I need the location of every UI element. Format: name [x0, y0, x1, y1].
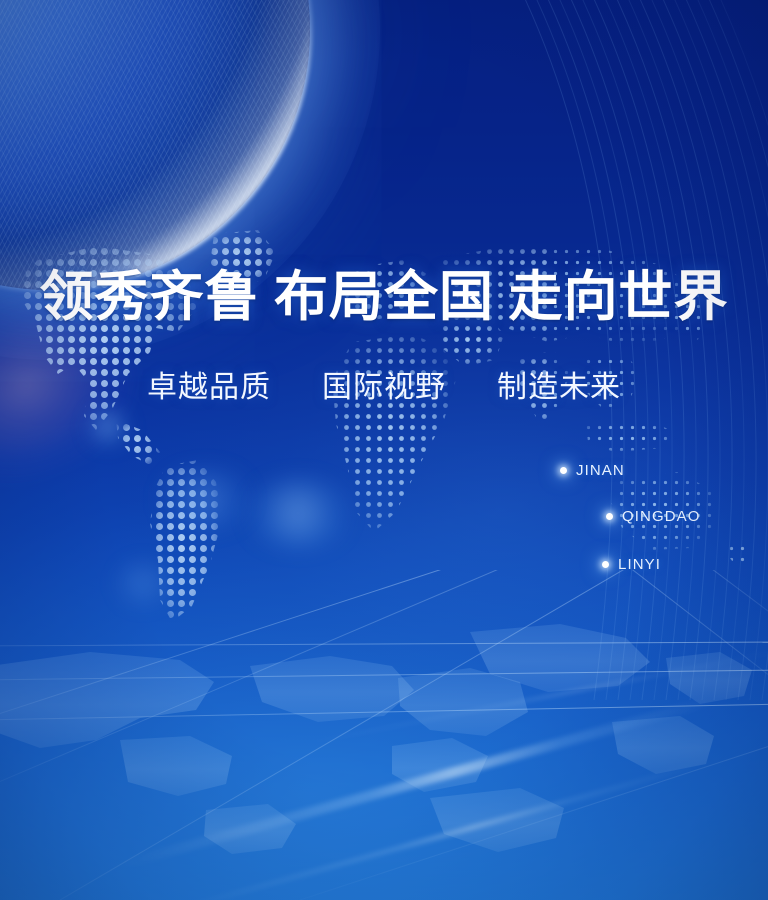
hero-banner: 领秀齐鲁 布局全国 走向世界 卓越品质 国际视野 制造未来 JINAN QING… — [0, 0, 768, 900]
orbit-arc-lines-icon — [388, 0, 768, 700]
glow-spot — [238, 478, 358, 548]
globe-texture — [0, 0, 310, 290]
earth-globe-graphic — [0, 0, 310, 290]
light-streak — [169, 760, 710, 900]
vignette-overlay — [0, 0, 768, 900]
city-dot-icon — [606, 513, 613, 520]
headline-text: 领秀齐鲁 布局全国 走向世界 — [0, 268, 768, 326]
light-streak — [289, 646, 768, 748]
ambient-glow-lower — [0, 430, 768, 900]
glow-spot — [108, 560, 178, 606]
city-marker-jinan: JINAN — [560, 462, 625, 479]
light-streak — [117, 695, 717, 870]
city-dot-icon — [560, 467, 567, 474]
city-marker-qingdao: QINGDAO — [606, 508, 701, 525]
perspective-world-map-graphic — [0, 570, 768, 900]
glow-spot — [150, 468, 260, 530]
city-label: JINAN — [576, 462, 625, 479]
city-label: LINYI — [618, 556, 661, 573]
globe-bright-limb — [0, 0, 312, 292]
city-label: QINGDAO — [622, 508, 701, 525]
glow-spot — [86, 408, 130, 446]
city-marker-linyi: LINYI — [602, 556, 661, 573]
city-dot-icon — [602, 561, 609, 568]
globe-body — [0, 0, 310, 290]
subheadline-text: 卓越品质 国际视野 制造未来 — [0, 371, 768, 405]
